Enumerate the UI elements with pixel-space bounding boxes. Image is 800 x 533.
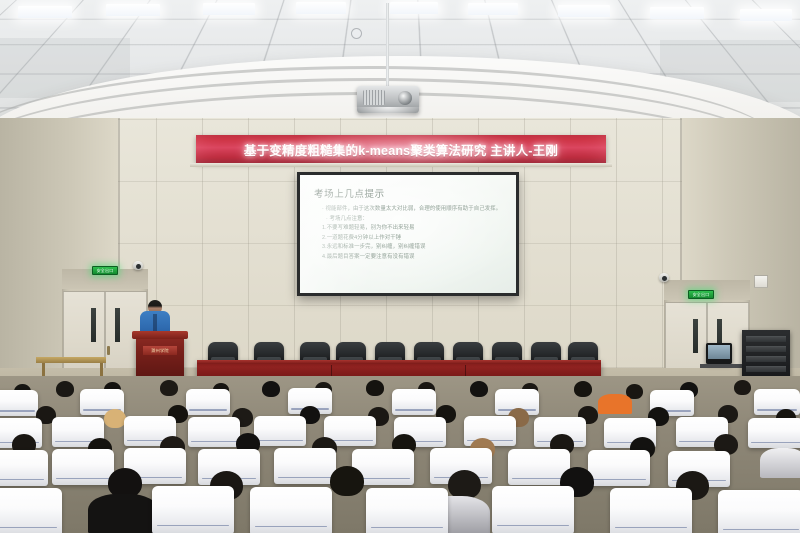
- ceiling-light: [203, 3, 255, 15]
- podium-plaque-text: 滁州学院: [151, 348, 169, 354]
- rack-unit: [746, 346, 786, 352]
- exit-sign-right: 安全出口: [688, 290, 714, 299]
- audience-seat: [392, 389, 436, 415]
- audience-head: [448, 470, 481, 499]
- audience-head: [262, 381, 280, 397]
- exit-sign-left: 安全出口: [92, 266, 118, 275]
- ceiling-light: [18, 6, 72, 18]
- slide-line: 1.不要写难题轻易，别为你不出来轻易: [322, 225, 506, 233]
- ceiling-light: [740, 9, 792, 21]
- ceiling-light: [558, 5, 610, 17]
- podium-top: [132, 331, 188, 339]
- audience-seat: [748, 418, 800, 448]
- ceiling-light: [390, 2, 438, 14]
- security-camera-right: [659, 273, 669, 282]
- audience-seat: [188, 417, 240, 447]
- audience-head: [330, 466, 364, 496]
- slide-title: 考场上几点提示: [314, 186, 385, 200]
- audience-head: [574, 381, 592, 397]
- slide-line: 4.最后题目答案一定要注意有没有错误: [322, 254, 506, 262]
- audience-shoulders: [598, 394, 632, 414]
- event-banner: 基于变精度粗糙集的k-means聚类算法研究 主讲人-王刚: [196, 135, 606, 163]
- audience-seat: [588, 450, 650, 486]
- audience-seat: [0, 390, 38, 416]
- audience-seat: [366, 488, 448, 533]
- slide-line: · 视能部件，由于这次数量太大对比弱，合理的使用顺序有助于自己发挥。: [322, 206, 506, 214]
- audience-seat: [152, 486, 234, 533]
- exit-sign-label: 安全出口: [97, 269, 114, 273]
- door-glass-panel: [91, 308, 96, 342]
- audience-seat: [274, 448, 336, 484]
- audience-seat: [0, 488, 62, 533]
- exit-sign-label: 安全出口: [693, 293, 710, 297]
- ceiling-vent-icon: [351, 28, 362, 39]
- av-table: [700, 364, 746, 368]
- rack-unit: [746, 356, 786, 362]
- audience-head: [734, 380, 751, 395]
- audience-seat: [610, 488, 692, 533]
- ceiling-light: [296, 2, 346, 14]
- control-monitor[interactable]: [706, 343, 732, 364]
- audience-head: [160, 380, 178, 396]
- audience-seating: [0, 376, 800, 533]
- audience-seat: [52, 449, 114, 485]
- wall-control-box[interactable]: [754, 275, 768, 288]
- audience-head: [366, 380, 384, 396]
- audience-seat: [254, 416, 306, 446]
- audience-seat: [186, 389, 230, 415]
- podium-plaque: 滁州学院: [143, 346, 177, 355]
- audience-head: [56, 381, 74, 397]
- side-table: [36, 357, 106, 363]
- projector-mount-pole: [386, 3, 389, 88]
- rack-unit: [746, 336, 786, 342]
- rack-unit: [746, 366, 786, 372]
- slide-line: 2.一道题花费4分钟以上作对干锤: [322, 235, 506, 243]
- audience-head: [104, 409, 126, 428]
- door-handle[interactable]: [107, 346, 110, 355]
- door-glass-panel: [693, 319, 698, 353]
- audience-shoulders: [88, 494, 158, 533]
- ceiling-light: [106, 4, 160, 16]
- slide-body: · 视能部件，由于这次数量太大对比弱，合理的使用顺序有助于自己发挥。 · 考场几…: [322, 206, 506, 263]
- audience-shoulders: [760, 448, 800, 478]
- door-glass-panel: [115, 308, 120, 342]
- banner-title: 基于变精度粗糙集的k-means聚类算法研究 主讲人-王刚: [244, 140, 558, 159]
- audience-seat: [250, 487, 332, 533]
- audience-head: [470, 381, 488, 397]
- slide-line: 3.永远和标准一步完，别纠缠，别纠缠错误: [322, 244, 506, 252]
- ceiling-light: [650, 7, 704, 19]
- auditorium-photo: 安全出口 安全出口 基于变精度粗糙集的k-means聚类算法研究 主讲人-王刚 …: [0, 0, 800, 533]
- projection-screen: 考场上几点提示 · 视能部件，由于这次数量太大对比弱，合理的使用顺序有助于自己发…: [297, 172, 519, 296]
- audience-seat: [0, 450, 48, 486]
- security-camera-left: [133, 261, 143, 270]
- ceiling-light: [468, 3, 518, 15]
- audience-seat: [492, 486, 574, 533]
- banner-rail: [190, 163, 612, 167]
- slide-line: · 考场几点注意：: [326, 216, 506, 224]
- audience-seat: [718, 490, 800, 533]
- screen-surface: 考场上几点提示 · 视能部件，由于这次数量太大对比弱，合理的使用顺序有助于自己发…: [300, 175, 516, 293]
